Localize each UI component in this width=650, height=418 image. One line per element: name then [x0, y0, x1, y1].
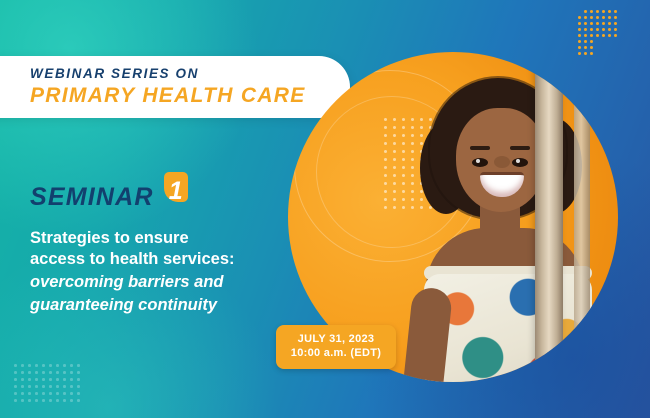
seminar-number-badge: 1 — [164, 178, 190, 216]
eye-left — [472, 158, 488, 167]
banner-text: WEBINAR SERIES ON PRIMARY HEALTH CARE — [30, 66, 306, 108]
nose — [494, 156, 510, 168]
seminar-heading: SEMINAR 1 — [30, 178, 190, 216]
date-badge-time: 10:00 a.m. (EDT) — [276, 346, 396, 360]
seminar-number-text: 1 — [164, 178, 188, 204]
paho-dot-logo-icon — [578, 10, 624, 56]
subtitle-italic-line-1: overcoming barriers and — [30, 272, 280, 293]
eyebrow-left — [470, 146, 490, 150]
eye-highlight-right — [516, 159, 520, 163]
eye-highlight-left — [476, 159, 480, 163]
banner-line-2: PRIMARY HEALTH CARE — [30, 84, 306, 108]
subtitle-bold-line-1: Strategies to ensure — [30, 228, 280, 249]
subtitle-bold-line-2: access to health services: — [30, 249, 280, 270]
webinar-poster: WEBINAR SERIES ON PRIMARY HEALTH CARE SE… — [0, 0, 650, 418]
eye-right — [512, 158, 528, 167]
seminar-label: SEMINAR — [30, 183, 154, 212]
eyebrow-right — [510, 146, 530, 150]
date-badge-date: JULY 31, 2023 — [276, 332, 396, 346]
corner-dot-pattern — [14, 364, 84, 404]
wooden-post-right — [574, 52, 590, 382]
wooden-post-left — [535, 52, 563, 382]
seminar-subtitle: Strategies to ensure access to health se… — [30, 228, 280, 316]
date-badge: JULY 31, 2023 10:00 a.m. (EDT) — [276, 325, 396, 369]
banner: WEBINAR SERIES ON PRIMARY HEALTH CARE — [0, 56, 350, 118]
subtitle-italic-line-2: guaranteeing continuity — [30, 295, 280, 316]
banner-line-1: WEBINAR SERIES ON — [30, 66, 306, 82]
dress — [424, 274, 592, 382]
